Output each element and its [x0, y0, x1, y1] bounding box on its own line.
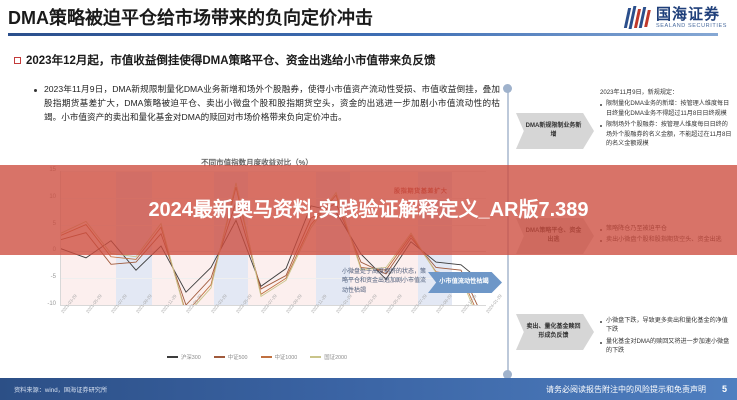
legend-label: 国证2000	[324, 353, 347, 361]
legend-swatch-icon	[167, 356, 178, 358]
chart-y-tick: -5	[22, 274, 56, 280]
footer-source: 资料来源：wind，国海证券研究所	[14, 385, 107, 394]
body-bullet: 2023年11月9日，DMA新规限制量化DMA业务新增和场外个股融券，使得小市值…	[34, 83, 500, 125]
company-logo: 国海证券 SEALAND SECURITIES	[626, 6, 727, 30]
timeline-chevron-3: 卖出、量化基金赎回形成负反馈	[516, 314, 594, 350]
chart-legend-item: 中证500	[214, 353, 248, 361]
bullet-dot-icon	[600, 321, 602, 323]
timeline-bullet: 限制场外个股融券：按管理人维度每日日终的场外个股融券的名义金额，不能超过在11月…	[600, 120, 732, 148]
footer-right: 请务必阅读报告附注中的风险提示和免责声明 5	[546, 384, 727, 395]
chart-x-tick: 2024-01-29	[485, 293, 503, 314]
legend-label: 中证500	[228, 353, 248, 361]
chart-x-axis: 2021-03-292021-05-292021-07-292021-09-29…	[60, 309, 486, 351]
logo-name-cn: 国海证券	[656, 7, 727, 22]
bullet-dot-icon	[600, 125, 602, 127]
bullet-square-icon	[14, 57, 21, 64]
chart-legend-item: 沪深300	[167, 353, 201, 361]
chart-gridline	[61, 305, 486, 306]
legend-swatch-icon	[261, 356, 272, 358]
bullet-dot-icon	[600, 342, 602, 344]
timeline-dot-top	[503, 84, 512, 93]
chart-legend: 沪深300中证500中证1000国证2000	[22, 353, 492, 361]
timeline-chevron-1: DMA新规限制业务新增	[516, 113, 594, 149]
annotation-chevron-liquidity: 小市值流动性枯竭	[428, 272, 502, 293]
watermark-overlay: 2024最新奥马资料,实践验证解释定义_AR版7.389	[0, 165, 737, 255]
legend-swatch-icon	[214, 356, 225, 358]
watermark-text: 2024最新奥马资料,实践验证解释定义_AR版7.389	[25, 197, 713, 224]
timeline-bullet-text: 小微盘下跌，导致更多卖出和量化基金的净值下跌	[606, 316, 732, 335]
section-subhead: 2023年12月起，市值收益倒挂使得DMA策略平仓、资金出逃给小市值带来负反馈	[14, 52, 436, 68]
legend-label: 中证1000	[275, 353, 298, 361]
body-paragraph: 2023年11月9日，DMA新规限制量化DMA业务新增和场外个股融券，使得小市值…	[44, 83, 500, 125]
page-title: DMA策略被迫平仓给市场带来的负向定价冲击	[8, 4, 373, 30]
logo-mark-icon	[626, 6, 652, 30]
timeline-content-3: 小微盘下跌，导致更多卖出和量化基金的净值下跌 量化基金对DMA的赎回又将进一步加…	[600, 314, 732, 356]
header-divider	[8, 33, 718, 36]
bullet-dot-icon	[600, 104, 602, 106]
slide-footer: 资料来源：wind，国海证券研究所 请务必阅读报告附注中的风险提示和免责声明 5	[0, 378, 737, 400]
timeline-bullet-text: 限制场外个股融券：按管理人维度每日日终的场外个股融券的名义金额，不能超过在11月…	[606, 120, 732, 148]
legend-swatch-icon	[310, 356, 321, 358]
annotation-note-text: 小微盘处于高度拥挤的状态，策略平仓和资金出逃加剧小市值流动性枯竭	[342, 268, 428, 296]
timeline-bullet-text: 量化基金对DMA的赎回又将进一步加速小微盘的下跌	[606, 337, 732, 356]
timeline-bullet-text: 限制量化DMA业务的新增：按管理人维度每日日终量化DMA业务不得超过11月8日日…	[606, 99, 732, 118]
subhead-text: 2023年12月起，市值收益倒挂使得DMA策略平仓、资金出逃给小市值带来负反馈	[26, 52, 436, 68]
logo-name-en: SEALAND SECURITIES	[656, 24, 727, 30]
timeline-bullet: 限制量化DMA业务的新增：按管理人维度每日日终量化DMA业务不得超过11月8日日…	[600, 99, 732, 118]
legend-label: 沪深300	[181, 353, 201, 361]
slide-header: DMA策略被迫平仓给市场带来的负向定价冲击 国海证券 SEALAND SECUR…	[0, 0, 737, 43]
logo-text: 国海证券 SEALAND SECURITIES	[656, 7, 727, 30]
timeline-head-1: 2023年11月9日，新规规定：	[600, 88, 732, 97]
chart-legend-item: 国证2000	[310, 353, 347, 361]
bullet-dot-icon	[34, 89, 37, 92]
timeline-bullet: 小微盘下跌，导致更多卖出和量化基金的净值下跌	[600, 316, 732, 335]
timeline-content-1: 2023年11月9日，新规规定： 限制量化DMA业务的新增：按管理人维度每日日终…	[600, 88, 732, 149]
footer-disclaimer: 请务必阅读报告附注中的风险提示和免责声明	[546, 384, 706, 395]
chart-legend-item: 中证1000	[261, 353, 298, 361]
timeline-bullet: 量化基金对DMA的赎回又将进一步加速小微盘的下跌	[600, 337, 732, 356]
chart-y-tick: -10	[22, 301, 56, 307]
footer-page-number: 5	[722, 384, 727, 394]
slide-root: DMA策略被迫平仓给市场带来的负向定价冲击 国海证券 SEALAND SECUR…	[0, 0, 737, 400]
